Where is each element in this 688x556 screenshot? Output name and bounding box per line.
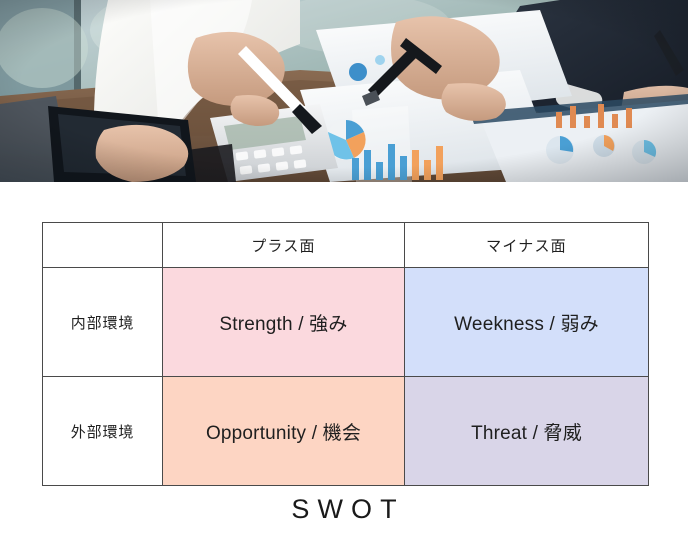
- quadrant-strength: Strength / 強み: [163, 268, 405, 377]
- hero-photo: [0, 0, 688, 182]
- column-header-negative: マイナス面: [405, 223, 649, 268]
- swot-matrix-table: プラス面 マイナス面 内部環境 Strength / 強み Weekness /…: [42, 222, 649, 486]
- swot-caption: SWOT: [0, 494, 688, 525]
- quadrant-opportunity: Opportunity / 機会: [163, 377, 405, 486]
- hero-photo-image: [0, 0, 688, 182]
- table-header-row: プラス面 マイナス面: [43, 223, 649, 268]
- column-header-positive: プラス面: [163, 223, 405, 268]
- table-row-internal: 内部環境 Strength / 強み Weekness / 弱み: [43, 268, 649, 377]
- table-row-external: 外部環境 Opportunity / 機会 Threat / 脅威: [43, 377, 649, 486]
- quadrant-threat: Threat / 脅威: [405, 377, 649, 486]
- row-header-internal-environment: 内部環境: [43, 268, 163, 377]
- quadrant-weakness: Weekness / 弱み: [405, 268, 649, 377]
- table-corner-cell: [43, 223, 163, 268]
- row-header-external-environment: 外部環境: [43, 377, 163, 486]
